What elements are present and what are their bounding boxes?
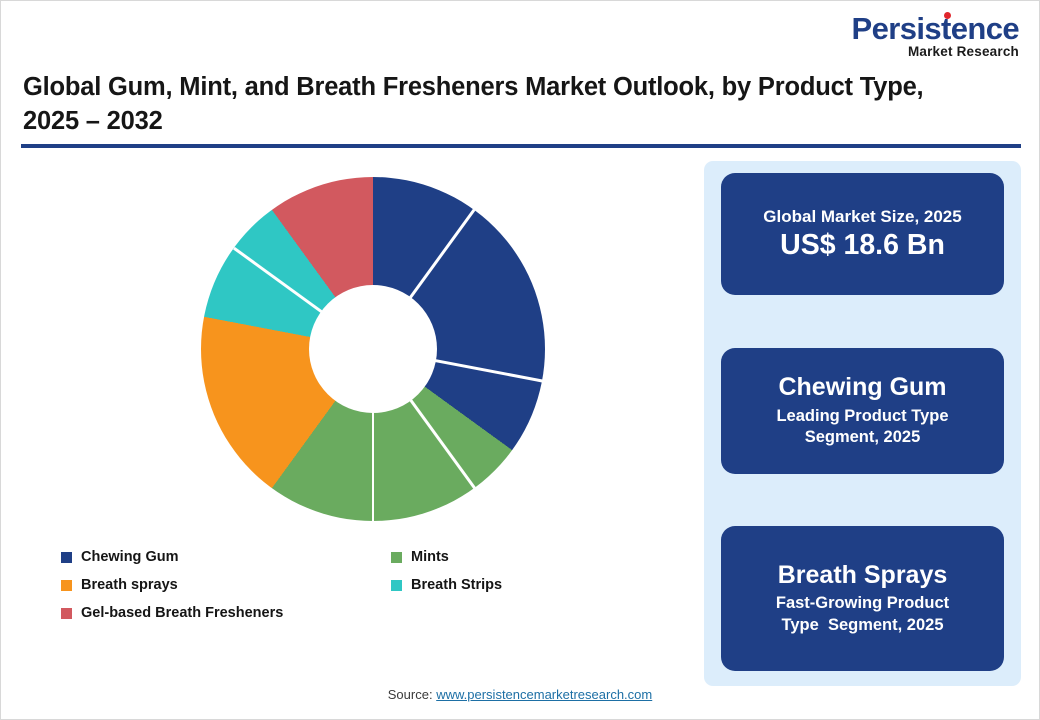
- card-market-size-caption: Global Market Size, 2025: [763, 206, 961, 227]
- legend-item-label: Breath sprays: [81, 577, 178, 593]
- legend-item[interactable]: Breath Strips: [391, 577, 502, 593]
- page-title: Global Gum, Mint, and Breath Fresheners …: [23, 71, 973, 139]
- donut-center-hole: [309, 285, 437, 413]
- source-note: Source: www.persistencemarketresearch.co…: [1, 687, 1039, 702]
- infographic-page: Persistence Market Research Global Gum, …: [0, 0, 1040, 720]
- legend-item[interactable]: Mints: [391, 549, 449, 565]
- title-divider: [21, 144, 1021, 148]
- card-leading-segment-subtitle: Leading Product Type Segment, 2025: [776, 406, 948, 449]
- legend-item[interactable]: Breath sprays: [61, 577, 391, 593]
- card-fastest-growing-subtitle: Fast-Growing Product Type Segment, 2025: [776, 593, 949, 636]
- highlights-panel: Global Market Size, 2025 US$ 18.6 Bn Che…: [704, 161, 1021, 686]
- card-leading-segment: Chewing Gum Leading Product Type Segment…: [721, 348, 1004, 474]
- legend-row: Chewing GumMints: [61, 549, 661, 565]
- card-fastest-growing-headline: Breath Sprays: [778, 561, 948, 591]
- legend-swatch-icon: [391, 580, 402, 591]
- source-label: Source:: [388, 687, 433, 702]
- source-link[interactable]: www.persistencemarketresearch.com: [436, 687, 652, 702]
- logo-dot-icon: [944, 12, 951, 19]
- donut-chart: [201, 177, 545, 521]
- logo-tagline: Market Research: [852, 45, 1019, 59]
- card-market-size-value: US$ 18.6 Bn: [780, 228, 945, 262]
- card-leading-segment-headline: Chewing Gum: [778, 373, 946, 403]
- card-market-size: Global Market Size, 2025 US$ 18.6 Bn: [721, 173, 1004, 295]
- logo-wordmark: Persistence: [852, 13, 1019, 44]
- card-fastest-growing-segment: Breath Sprays Fast-Growing Product Type …: [721, 526, 1004, 671]
- legend-item-label: Gel-based Breath Fresheners: [81, 605, 283, 621]
- legend-item-label: Breath Strips: [411, 577, 502, 593]
- legend-row: Gel-based Breath Fresheners: [61, 605, 661, 621]
- chart-legend: Chewing GumMintsBreath spraysBreath Stri…: [61, 549, 661, 633]
- legend-item[interactable]: Gel-based Breath Fresheners: [61, 605, 391, 621]
- legend-swatch-icon: [61, 552, 72, 563]
- legend-swatch-icon: [391, 552, 402, 563]
- brand-logo: Persistence Market Research: [852, 13, 1019, 59]
- legend-item-label: Chewing Gum: [81, 549, 178, 565]
- legend-swatch-icon: [61, 580, 72, 591]
- legend-item[interactable]: Chewing Gum: [61, 549, 391, 565]
- legend-row: Breath spraysBreath Strips: [61, 577, 661, 593]
- legend-item-label: Mints: [411, 549, 449, 565]
- legend-swatch-icon: [61, 608, 72, 619]
